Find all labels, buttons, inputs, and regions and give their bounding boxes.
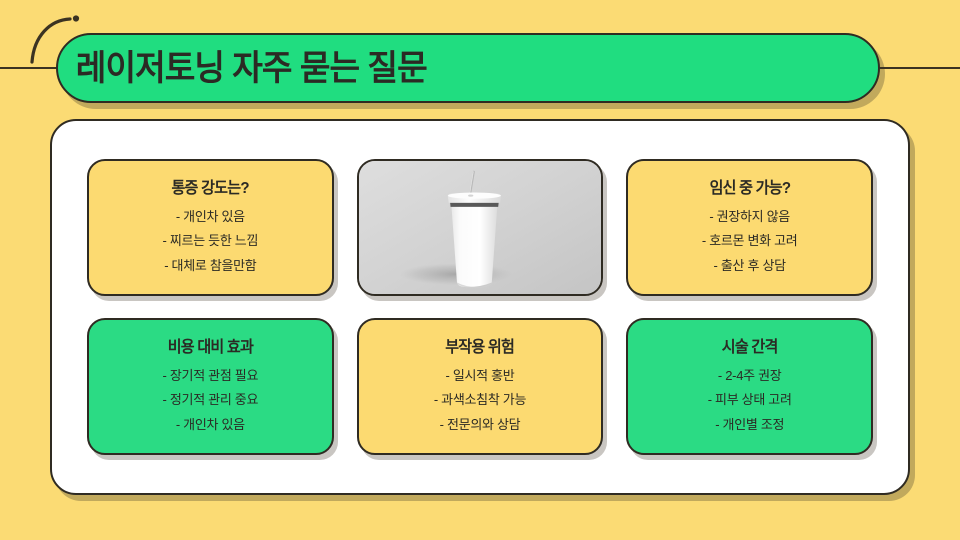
card-item: - 일시적 홍반 — [446, 369, 515, 383]
card-title: 부작용 위험 — [446, 340, 515, 356]
content-panel: 통증 강도는? - 개인차 있음 - 찌르는 듯한 느낌 - 대체로 참을만함 — [50, 119, 910, 495]
faq-card-pain-intensity[interactable]: 통증 강도는? - 개인차 있음 - 찌르는 듯한 느낌 - 대체로 참을만함 — [87, 159, 334, 296]
card-item: - 권장하지 않음 — [709, 210, 790, 224]
cup-photo — [357, 159, 604, 296]
card-title: 시술 간격 — [722, 340, 778, 356]
card-title: 통증 강도는? — [172, 181, 249, 197]
card-item: - 장기적 관점 필요 — [163, 369, 259, 383]
card-item: - 대체로 참을만함 — [164, 259, 256, 273]
title-bar: 레이저토닝 자주 묻는 질문 — [56, 33, 880, 103]
faq-card-side-effects[interactable]: 부작용 위험 - 일시적 홍반 - 과색소침착 가능 - 전문의와 상담 — [357, 318, 604, 455]
card-item: - 개인차 있음 — [176, 418, 245, 432]
card-item: - 호르몬 변화 고려 — [702, 234, 798, 248]
faq-card-cost-effectiveness[interactable]: 비용 대비 효과 - 장기적 관점 필요 - 정기적 관리 중요 - 개인차 있… — [87, 318, 334, 455]
faq-card-treatment-interval[interactable]: 시술 간격 - 2-4주 권장 - 피부 상태 고려 - 개인별 조정 — [626, 318, 873, 455]
card-item: - 출산 후 상담 — [714, 259, 786, 273]
card-item: - 개인차 있음 — [176, 210, 245, 224]
card-item: - 개인별 조정 — [715, 418, 784, 432]
card-item: - 찌르는 듯한 느낌 — [163, 234, 259, 248]
faq-card-pregnancy[interactable]: 임신 중 가능? - 권장하지 않음 - 호르몬 변화 고려 - 출산 후 상담 — [626, 159, 873, 296]
card-item: - 피부 상태 고려 — [708, 393, 792, 407]
page-title: 레이저토닝 자주 묻는 질문 — [72, 51, 427, 86]
faq-grid: 통증 강도는? - 개인차 있음 - 찌르는 듯한 느낌 - 대체로 참을만함 — [87, 159, 873, 455]
card-title: 비용 대비 효과 — [168, 340, 253, 356]
card-item: - 전문의와 상담 — [440, 418, 521, 432]
card-item: - 2-4주 권장 — [718, 369, 782, 383]
card-item: - 정기적 관리 중요 — [163, 393, 259, 407]
cup-illustration-icon — [359, 161, 602, 294]
card-item: - 과색소침착 가능 — [434, 393, 526, 407]
card-title: 임신 중 가능? — [709, 181, 790, 197]
